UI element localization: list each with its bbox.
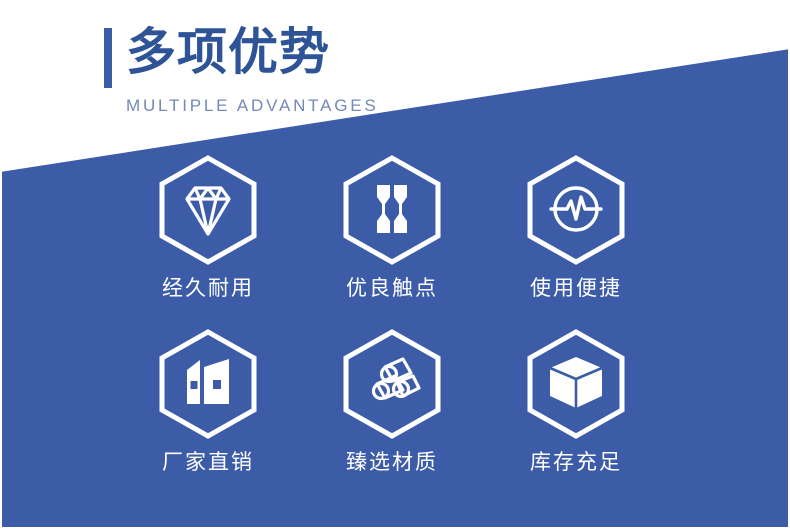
cube-box-icon xyxy=(550,357,602,408)
header: 多项优势 MULTIPLE ADVANTAGES xyxy=(104,24,379,116)
hex-frame xyxy=(155,326,261,436)
stacked-tubes-icon xyxy=(374,359,420,399)
hex-frame xyxy=(339,326,445,436)
hex-frame xyxy=(523,152,629,262)
advantage-label: 经久耐用 xyxy=(162,272,254,302)
advantage-label: 臻选材质 xyxy=(346,446,438,476)
advantage-label: 优良触点 xyxy=(346,272,438,302)
title-accent-bar xyxy=(104,28,112,88)
pulse-circle-icon xyxy=(551,188,601,230)
page-title: 多项优势 xyxy=(126,24,330,80)
advantage-item: 优良触点 xyxy=(300,152,484,326)
hex-frame xyxy=(339,152,445,262)
title-row: 多项优势 xyxy=(104,24,379,88)
diamond-icon xyxy=(187,188,229,234)
advantage-item: 厂家直销 xyxy=(116,326,300,500)
advantages-poster: 多项优势 MULTIPLE ADVANTAGES xyxy=(0,0,790,529)
contacts-icon xyxy=(377,185,407,233)
advantage-item: 经久耐用 xyxy=(116,152,300,326)
page-subtitle: MULTIPLE ADVANTAGES xyxy=(126,96,379,116)
hex-frame xyxy=(155,152,261,262)
hex-frame xyxy=(523,326,629,436)
advantage-label: 厂家直销 xyxy=(162,446,254,476)
advantage-item: 臻选材质 xyxy=(300,326,484,500)
advantage-item: 库存充足 xyxy=(484,326,668,500)
advantage-label: 库存充足 xyxy=(530,446,622,476)
advantages-grid: 经久耐用 优良触点 xyxy=(116,152,668,500)
advantage-label: 使用便捷 xyxy=(530,272,622,302)
advantage-item: 使用便捷 xyxy=(484,152,668,326)
